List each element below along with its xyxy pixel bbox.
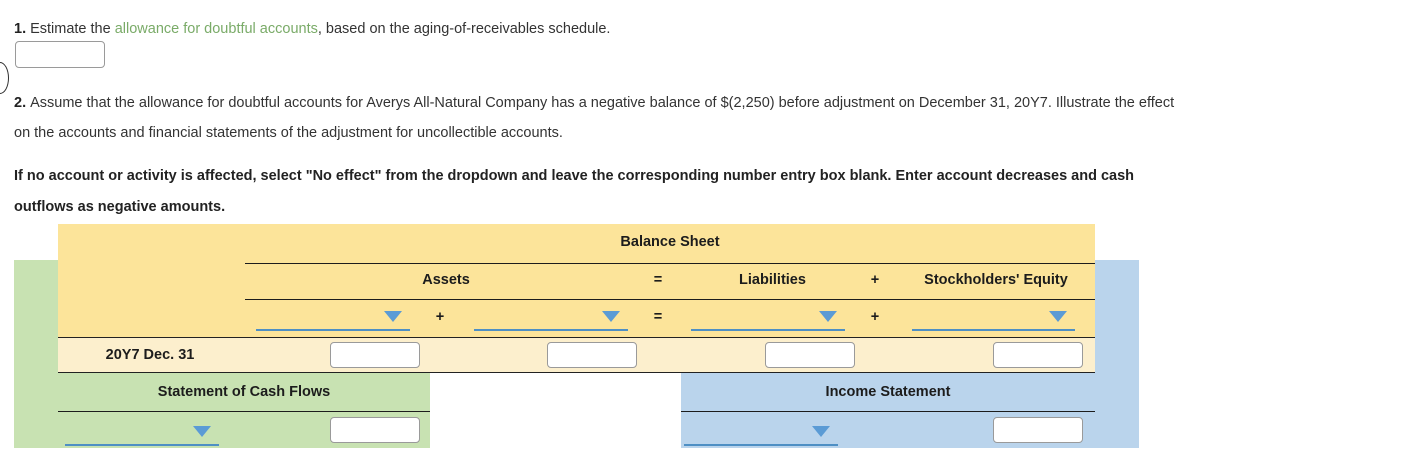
- dropdown-underline: [684, 444, 838, 446]
- cash-flow-activity-dropdown[interactable]: [65, 420, 219, 446]
- income-statement-rule: [681, 411, 1095, 412]
- column-header-liabilities: Liabilities: [700, 272, 845, 288]
- operator-equals-selector: =: [643, 309, 673, 325]
- operator-plus-selector-1: +: [425, 309, 455, 325]
- operator-plus-selector-2: +: [860, 309, 890, 325]
- income-statement-account-dropdown[interactable]: [684, 420, 838, 446]
- account-dropdown-stockholders-equity[interactable]: [912, 305, 1075, 331]
- dropdown-underline: [912, 329, 1075, 331]
- question-1-text: 1.Estimate the allowance for doubtful ac…: [14, 14, 610, 44]
- cash-flow-rule: [58, 411, 430, 412]
- chevron-down-icon: [384, 311, 402, 322]
- amount-input-liabilities[interactable]: [765, 342, 855, 368]
- account-dropdown-assets-2[interactable]: [474, 305, 628, 331]
- cash-flow-title: Statement of Cash Flows: [58, 384, 430, 400]
- question-2-number: 2.: [14, 95, 26, 111]
- amount-input-stockholders-equity[interactable]: [993, 342, 1083, 368]
- balance-sheet-rule-bottom: [245, 299, 1095, 300]
- chevron-down-icon: [602, 311, 620, 322]
- question-2-line-2: on the accounts and financial statements…: [14, 118, 1174, 148]
- dropdown-underline: [65, 444, 219, 446]
- decorative-arc: [0, 62, 9, 94]
- amount-input-assets-2[interactable]: [547, 342, 637, 368]
- dropdown-underline: [256, 329, 410, 331]
- chevron-down-icon: [812, 426, 830, 437]
- dropdown-underline: [474, 329, 628, 331]
- balance-sheet-rule-top: [245, 263, 1095, 264]
- column-header-assets: Assets: [371, 272, 521, 288]
- chevron-down-icon: [819, 311, 837, 322]
- question-1-text-after: , based on the aging-of-receivables sche…: [318, 21, 611, 37]
- income-statement-title: Income Statement: [681, 384, 1095, 400]
- amount-input-assets[interactable]: [330, 342, 420, 368]
- question-1-text-before: Estimate the: [30, 21, 115, 37]
- allowance-for-doubtful-accounts-link[interactable]: allowance for doubtful accounts: [115, 21, 318, 37]
- instruction-line-2: outflows as negative amounts.: [14, 192, 1134, 223]
- balance-sheet-title: Balance Sheet: [245, 234, 1095, 250]
- operator-plus-header: +: [860, 272, 890, 288]
- account-dropdown-liabilities[interactable]: [691, 305, 845, 331]
- question-2-line-1-text: Assume that the allowance for doubtful a…: [30, 95, 1174, 111]
- account-dropdown-assets[interactable]: [256, 305, 410, 331]
- question-1-number: 1.: [14, 21, 26, 37]
- chevron-down-icon: [193, 426, 211, 437]
- chevron-down-icon: [1049, 311, 1067, 322]
- question-2-text: 2.Assume that the allowance for doubtful…: [14, 88, 1174, 148]
- instruction-text: If no account or activity is affected, s…: [14, 161, 1134, 223]
- operator-equals-header: =: [641, 272, 675, 288]
- instruction-line-1: If no account or activity is affected, s…: [14, 161, 1134, 192]
- question-1-answer-input[interactable]: [15, 41, 105, 68]
- income-statement-amount-input[interactable]: [993, 417, 1083, 443]
- cash-flow-amount-input[interactable]: [330, 417, 420, 443]
- dropdown-underline: [691, 329, 845, 331]
- date-row-label: 20Y7 Dec. 31: [70, 347, 230, 363]
- question-2-line-1: 2.Assume that the allowance for doubtful…: [14, 88, 1174, 118]
- column-header-stockholders-equity: Stockholders' Equity: [897, 272, 1095, 288]
